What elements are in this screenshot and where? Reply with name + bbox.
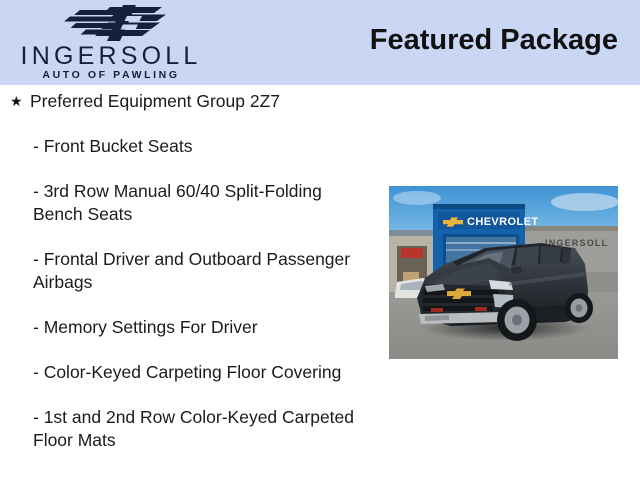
star-icon: ★ xyxy=(10,90,30,112)
feature-list: ★ Preferred Equipment Group 2Z7 - Front … xyxy=(10,90,365,452)
page-header: INGERSOLL AUTO OF PAWLING Featured Packa… xyxy=(0,0,640,85)
list-item: - 1st and 2nd Row Color-Keyed Carpeted F… xyxy=(33,406,363,452)
vehicle-photo: CHEVROLET INGERSOLL xyxy=(389,186,618,359)
brand-name: INGERSOLL xyxy=(6,44,216,69)
feature-heading-row: ★ Preferred Equipment Group 2Z7 xyxy=(10,90,365,112)
ingersoll-winged-emblem-icon xyxy=(50,3,168,43)
page-title: Featured Package xyxy=(370,24,618,57)
dealer-logo: INGERSOLL AUTO OF PAWLING xyxy=(6,2,216,82)
list-item: - Color-Keyed Carpeting Floor Covering xyxy=(33,361,363,384)
feature-heading-text: Preferred Equipment Group 2Z7 xyxy=(30,90,365,112)
list-item: - 3rd Row Manual 60/40 Split-Folding Ben… xyxy=(33,180,363,226)
list-item: - Frontal Driver and Outboard Passenger … xyxy=(33,248,363,294)
list-item: - Front Bucket Seats xyxy=(33,135,363,158)
list-item: - Memory Settings For Driver xyxy=(33,316,363,339)
brand-tagline: AUTO OF PAWLING xyxy=(6,70,216,81)
